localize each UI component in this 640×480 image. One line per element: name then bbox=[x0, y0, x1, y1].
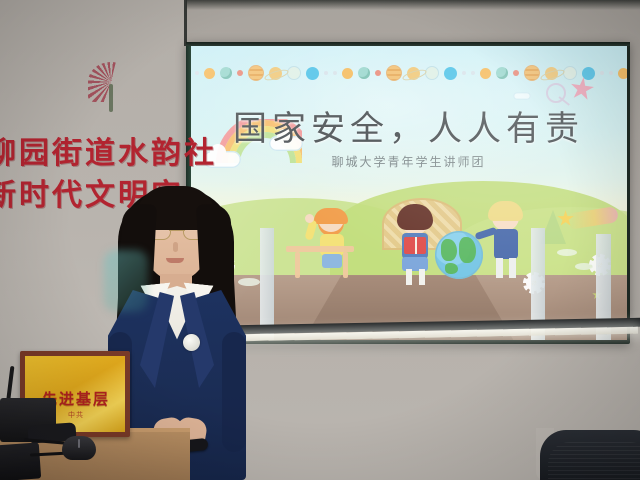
planet-saturn-icon bbox=[269, 67, 282, 80]
computer-mouse bbox=[62, 436, 96, 460]
photo-scene: 国家安全，人人有责 聊城大学青年学生讲师团 柳园街道水韵社 新时代文明实 bbox=[0, 0, 640, 480]
pillar-left-2 bbox=[260, 228, 274, 340]
planet-saturn-icon bbox=[407, 67, 420, 80]
bush-icon bbox=[557, 249, 577, 256]
wall-seam bbox=[184, 0, 187, 46]
lapel-badge bbox=[183, 334, 200, 351]
planet-jupiter-icon bbox=[524, 65, 540, 81]
ceiling-shadow bbox=[186, 0, 640, 10]
chair-mesh-back bbox=[548, 442, 640, 480]
continent bbox=[459, 237, 476, 263]
kid-right-leg bbox=[496, 258, 503, 278]
kid-left-hair bbox=[314, 208, 348, 224]
kid-center-leg bbox=[419, 269, 425, 285]
student-desk-leg bbox=[343, 252, 348, 278]
planet-orange-icon bbox=[618, 68, 627, 79]
dot-icon bbox=[195, 71, 199, 75]
kid-center-hair bbox=[397, 204, 433, 230]
dot-icon bbox=[471, 71, 475, 75]
slide-subtitle: 聊城大学青年学生讲师团 bbox=[190, 153, 627, 170]
continent bbox=[441, 239, 457, 261]
dot-red-icon bbox=[513, 70, 519, 76]
planet-group bbox=[190, 65, 328, 81]
planet-orange-icon bbox=[204, 68, 215, 79]
planet-pale-icon bbox=[287, 66, 301, 80]
slide-canvas: 国家安全，人人有责 聊城大学青年学生讲师团 bbox=[190, 45, 627, 340]
dot-icon bbox=[333, 71, 337, 75]
kid-center bbox=[391, 207, 441, 285]
screen-light-spill bbox=[104, 250, 148, 312]
planet-earth-icon bbox=[358, 67, 370, 79]
projection-screen: 国家安全，人人有责 聊城大学青年学生讲师团 bbox=[190, 45, 627, 340]
planet-orange-icon bbox=[342, 68, 353, 79]
kid-center-leg bbox=[406, 269, 412, 285]
kid-right-uniform bbox=[494, 229, 518, 259]
planet-earth-icon bbox=[220, 67, 232, 79]
planet-saturn-icon bbox=[545, 67, 558, 80]
planet-blue-icon bbox=[306, 67, 319, 80]
kid-right-hair bbox=[488, 201, 523, 221]
planet-group bbox=[328, 65, 466, 81]
planet-orange-icon bbox=[480, 68, 491, 79]
continent bbox=[445, 263, 458, 274]
student-desk-leg bbox=[295, 252, 300, 278]
wall-banner-line-1: 柳园街道水韵社 bbox=[0, 128, 217, 172]
planet-jupiter-icon bbox=[248, 65, 264, 81]
planet-blue-icon bbox=[582, 67, 595, 80]
cloud-icon bbox=[513, 92, 531, 100]
student-desk-top bbox=[286, 246, 354, 252]
dot-red-icon bbox=[375, 70, 381, 76]
planet-pale-icon bbox=[425, 66, 439, 80]
speaker-mouth bbox=[166, 258, 184, 263]
kid-right bbox=[483, 204, 531, 280]
dot-icon bbox=[609, 71, 613, 75]
speaker-nose bbox=[173, 242, 178, 252]
laptop bbox=[0, 442, 41, 480]
fan-emblem-icon bbox=[84, 62, 140, 114]
slide-title: 国家安全，人人有责 bbox=[190, 101, 627, 150]
kid-right-leg bbox=[509, 258, 516, 278]
dot-red-icon bbox=[237, 70, 243, 76]
planet-border bbox=[190, 61, 627, 85]
planet-group bbox=[604, 65, 627, 81]
kid-left-skirt bbox=[322, 254, 342, 268]
kid-left bbox=[308, 210, 360, 270]
blazer-sleeve-right bbox=[222, 332, 246, 452]
planet-pale-icon bbox=[563, 66, 577, 80]
screen-top-edge bbox=[186, 42, 630, 46]
planet-earth-icon bbox=[496, 67, 508, 79]
planet-blue-icon bbox=[444, 67, 457, 80]
planet-jupiter-icon bbox=[386, 65, 402, 81]
red-book-icon bbox=[404, 237, 426, 254]
